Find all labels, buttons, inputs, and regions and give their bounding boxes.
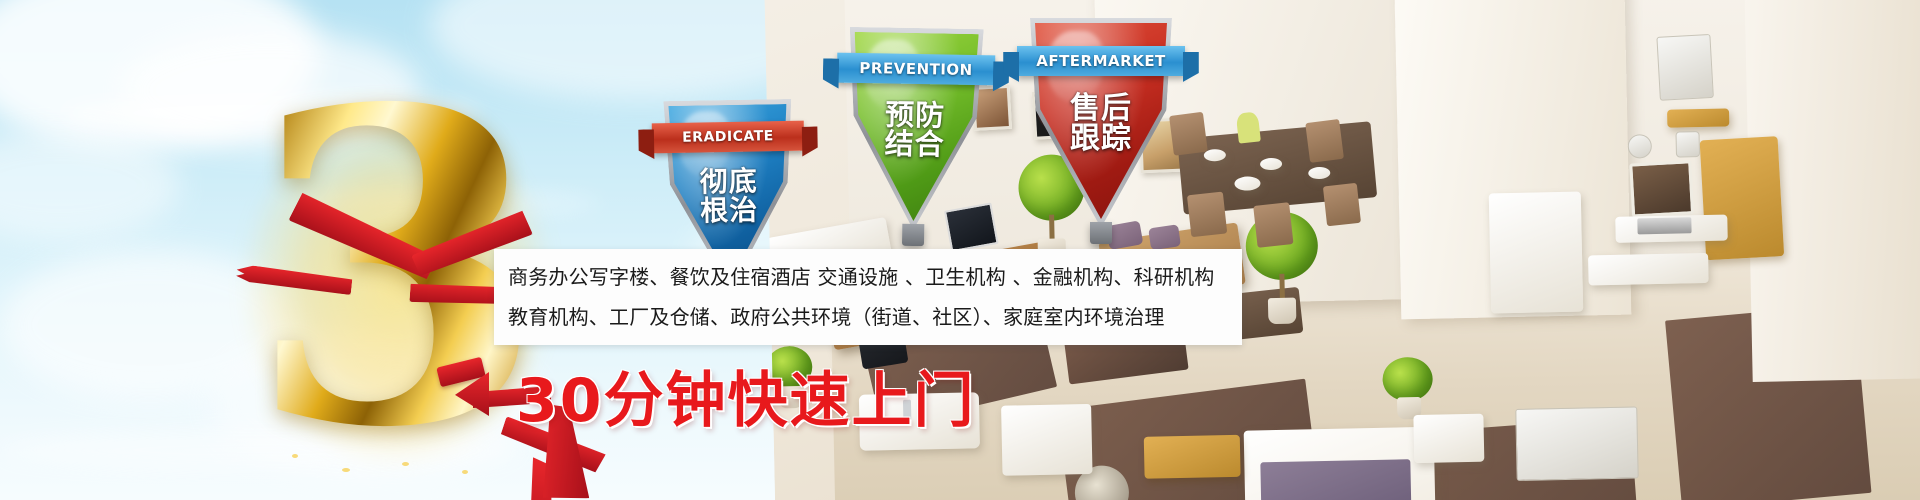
bed-blanket: [1260, 459, 1411, 500]
cushion: [1148, 224, 1181, 250]
shield-chinese-line2: 结合: [847, 129, 981, 161]
nightstand: [1413, 414, 1484, 463]
shield-stand: [902, 224, 924, 246]
white-console: [1515, 406, 1638, 481]
arrow-head: [455, 372, 489, 416]
shield-sash: AFTERMARKET: [1017, 46, 1185, 76]
shield-badge-aftermarket: 售后 跟踪 AFTERMARKET: [1030, 18, 1172, 228]
shield-sash: PREVENTION: [837, 53, 996, 86]
shield-badge-prevention: 预防 结合 PREVENTION: [846, 27, 984, 231]
shield-sash: ERADICATE: [652, 121, 804, 154]
dining-chair: [1187, 192, 1227, 238]
shield-chinese-line2: 跟踪: [1030, 124, 1172, 155]
shield-chinese-line1: 售后: [1030, 94, 1172, 125]
shield-english-label: ERADICATE: [682, 128, 774, 146]
service-scope-line-1: 商务办公写字楼、餐饮及住宿酒店 交通设施 、卫生机构 、金融机构、科研机构: [508, 257, 1228, 297]
gold-sparkle: [402, 462, 409, 466]
dining-chair: [1253, 202, 1293, 248]
range-hood: [1667, 108, 1729, 127]
vanity-unit: [1001, 404, 1092, 476]
dining-chair: [1169, 112, 1208, 156]
shield-english-label: AFTERMARKET: [1036, 52, 1166, 70]
wood-cabinet: [1144, 435, 1241, 479]
wall-cabinet: [1656, 34, 1713, 101]
shield-chinese-text: 彻底 根治: [665, 167, 794, 226]
lower-counter: [1588, 253, 1709, 286]
kitchen-cabinet: [1700, 136, 1785, 260]
gold-sparkle: [462, 470, 468, 474]
shield-chinese-text: 售后 跟踪: [1030, 94, 1172, 155]
service-scope-line-2: 教育机构、工厂及仓储、政府公共环境（街道、社区）、家庭室内环境治理: [508, 297, 1228, 337]
shield-chinese-line2: 根治: [665, 196, 793, 227]
shield-chinese-text: 预防 结合: [847, 100, 982, 161]
shield-stand: [1090, 222, 1113, 244]
cooktop: [1637, 217, 1691, 234]
dining-chair: [1323, 183, 1361, 226]
gold-sparkle: [342, 468, 350, 472]
promo-banner: 3 彻底 根治 ERADICATE: [0, 0, 1920, 500]
shield-english-label: PREVENTION: [859, 59, 973, 79]
kettle: [1675, 131, 1700, 157]
kitchen-island: [1489, 192, 1583, 314]
oven: [1629, 160, 1694, 217]
service-scope-card: 商务办公写字楼、餐饮及住宿酒店 交通设施 、卫生机构 、金融机构、科研机构 教育…: [494, 249, 1242, 345]
dining-chair: [1305, 119, 1344, 163]
headline-text: 30分钟快速上门: [516, 352, 976, 439]
gold-sparkle: [292, 454, 298, 458]
